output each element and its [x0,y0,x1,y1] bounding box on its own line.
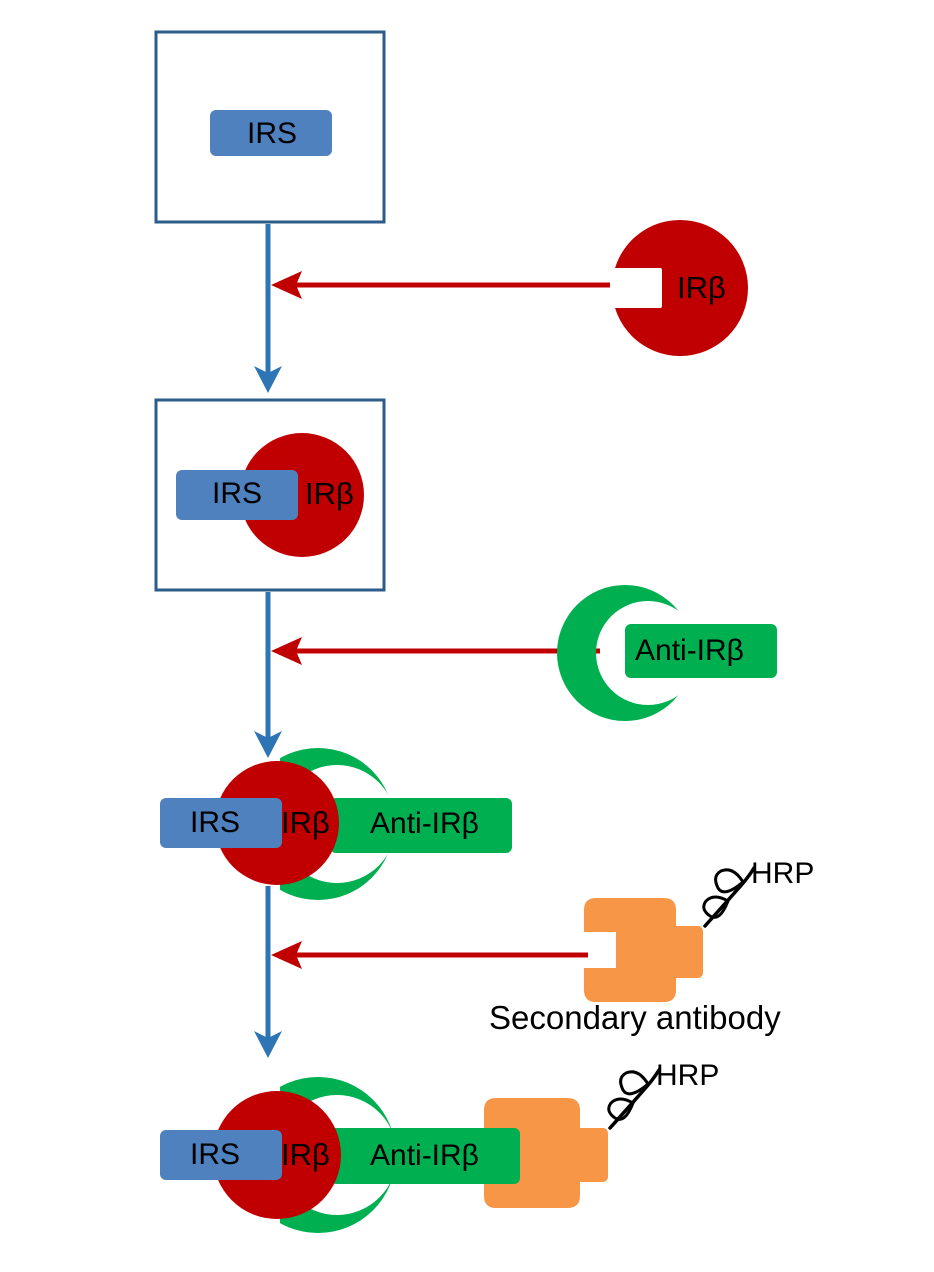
irs-block-3 [160,798,282,848]
hrp-sprig-4 [609,1070,659,1128]
diagram-canvas: IRS IRβ IRS IRβ Anti-IRβ IRS IRβ Anti-IR… [0,0,934,1272]
secondary-antibody-reagent-shape [584,868,754,1002]
diagram-svg [0,0,934,1272]
step-1-group [156,32,384,222]
flow-arrow-2 [254,592,282,758]
flow-arrow-3 [254,886,282,1058]
anti-irbeta-reagent-shape [557,585,777,721]
irs-block-4 [160,1130,282,1180]
flow-arrow-1 [254,224,282,393]
reagent-arrow-1 [271,271,610,299]
irbeta-reagent-shape [612,220,748,356]
irs-block-2 [176,470,298,520]
step-4-group [160,1070,659,1233]
reagent-arrow-2 [271,637,600,665]
reagent-arrow-3 [271,941,588,969]
step-2-group [156,400,384,590]
hrp-sprig-3 [704,868,754,926]
irs-block-1 [210,110,332,156]
step-3-group [160,748,512,900]
